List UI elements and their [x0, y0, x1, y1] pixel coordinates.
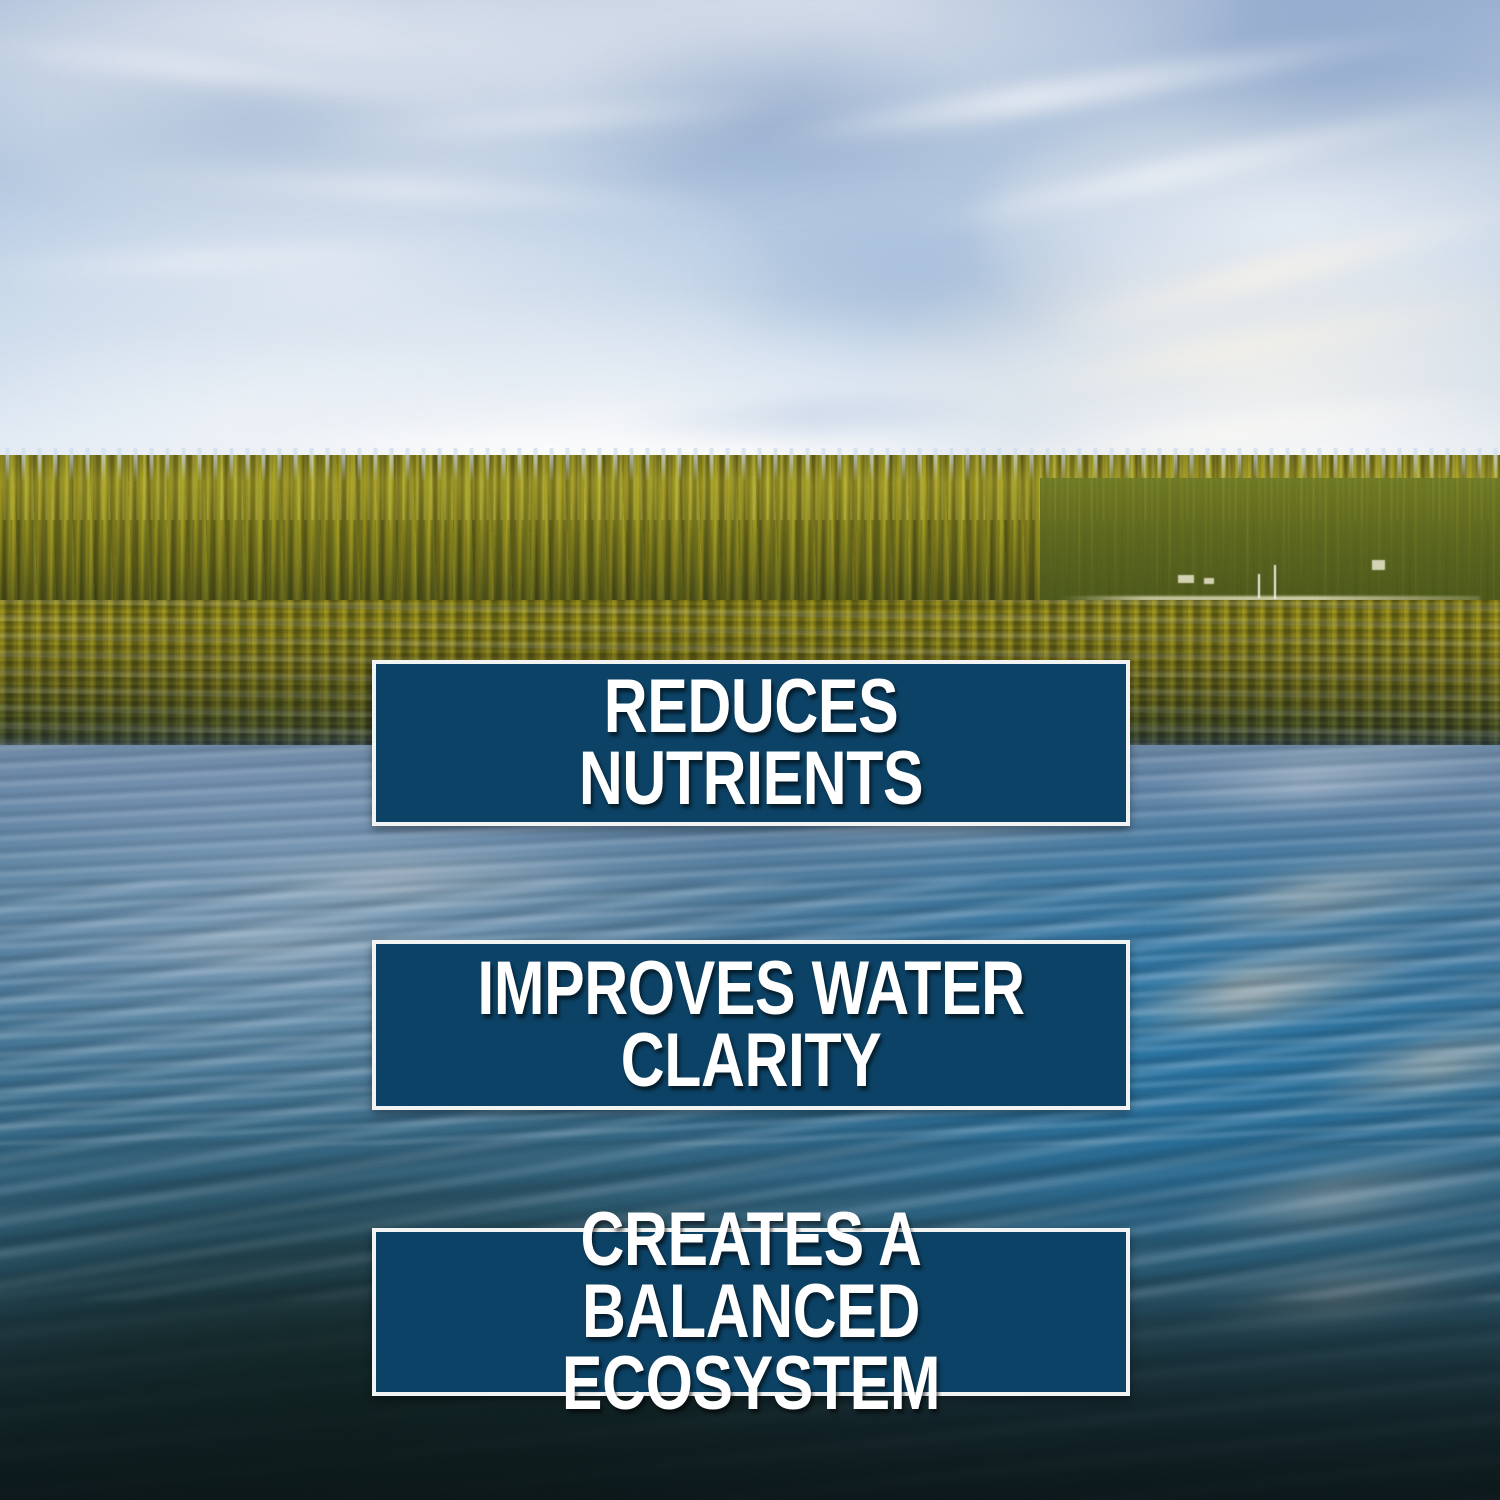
benefit-banner-label: CREATES A BALANCED ECOSYSTEM — [451, 1204, 1051, 1421]
benefit-banner-label: IMPROVES WATER CLARITY — [471, 953, 1031, 1097]
sailboat-mast — [1274, 565, 1276, 599]
distant-shoreline-forest — [1040, 478, 1500, 606]
sailboat-mast — [1258, 574, 1260, 598]
benefit-banner-improves-water-clarity: IMPROVES WATER CLARITY — [372, 940, 1130, 1110]
shore-building — [1372, 560, 1385, 570]
benefit-banner-reduces-nutrients: REDUCES NUTRIENTS — [372, 660, 1130, 826]
shore-building — [1178, 575, 1194, 583]
benefit-banner-label: REDUCES NUTRIENTS — [451, 671, 1051, 815]
product-benefit-graphic: REDUCES NUTRIENTS IMPROVES WATER CLARITY… — [0, 0, 1500, 1500]
benefit-banner-creates-a-balanced-ecosystem: CREATES A BALANCED ECOSYSTEM — [372, 1228, 1130, 1396]
sky-background — [0, 0, 1500, 520]
shore-building — [1204, 578, 1214, 584]
